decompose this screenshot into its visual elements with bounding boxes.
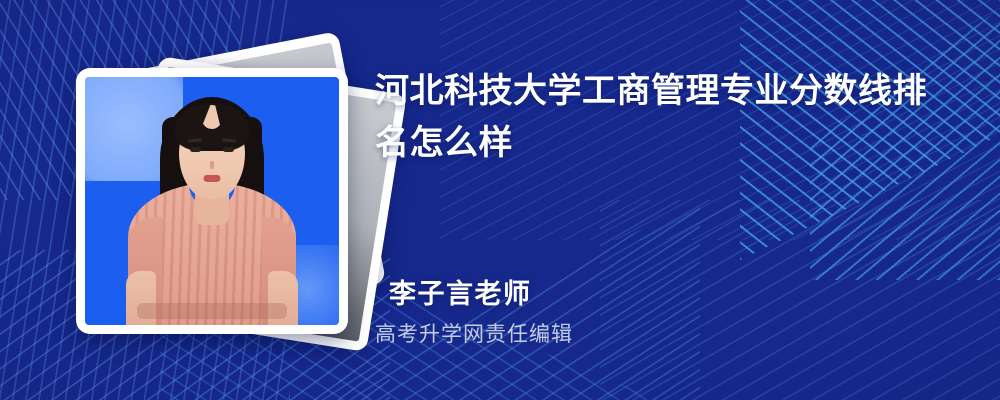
photo-card-stack bbox=[58, 36, 358, 356]
eye-right bbox=[223, 147, 234, 152]
author-role: 高考升学网责任编辑 bbox=[375, 318, 573, 348]
eye-left bbox=[190, 147, 201, 152]
author-name: 李子言老师 bbox=[389, 272, 532, 311]
banner-text-block: 河北科技大学工商管理专业分数线排名怎么样 李子言老师 高考升学网责任编辑 bbox=[375, 0, 975, 400]
article-hero-banner: 河北科技大学工商管理专业分数线排名怎么样 李子言老师 高考升学网责任编辑 bbox=[0, 0, 1000, 400]
article-headline: 河北科技大学工商管理专业分数线排名怎么样 bbox=[375, 66, 955, 169]
portrait-photo bbox=[85, 77, 339, 325]
portrait-figure bbox=[85, 77, 339, 325]
waist-band bbox=[137, 303, 287, 319]
mouth bbox=[204, 175, 221, 182]
photo-card-front bbox=[76, 68, 348, 334]
nose bbox=[210, 161, 214, 169]
